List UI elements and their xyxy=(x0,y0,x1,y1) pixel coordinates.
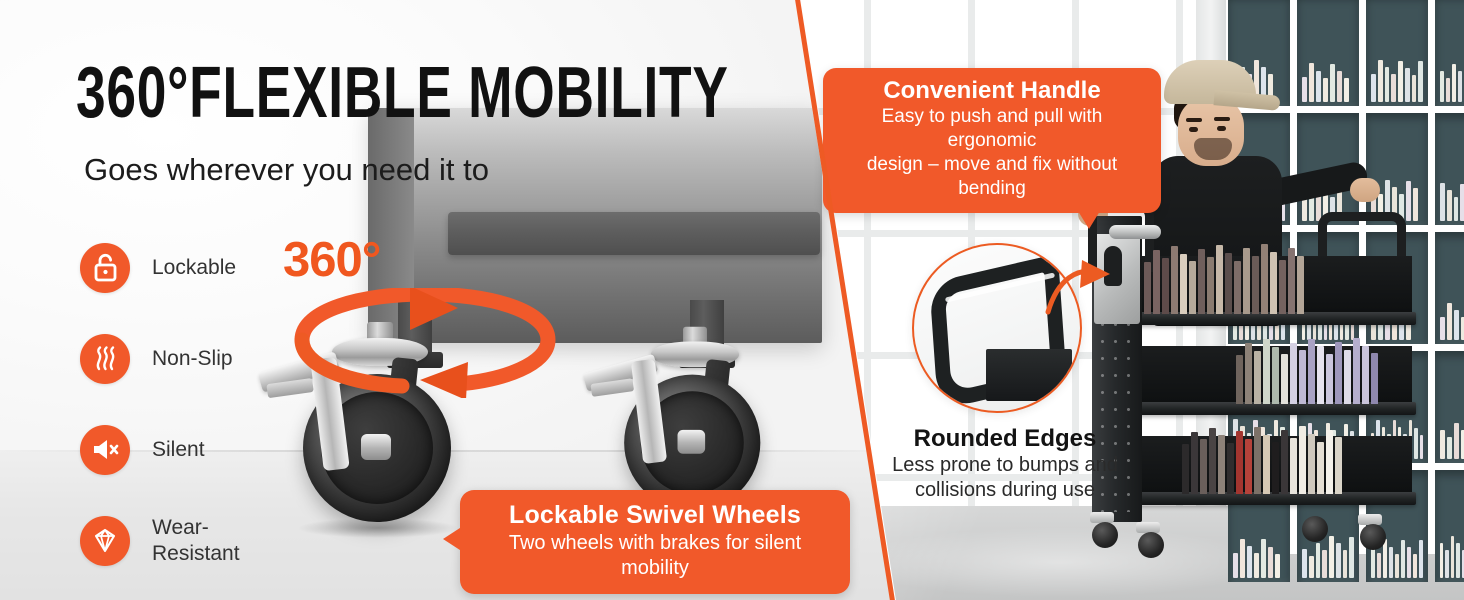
book xyxy=(1236,355,1243,404)
cart-caster xyxy=(1090,512,1120,546)
feature-label: Wear- Resistant xyxy=(152,515,240,567)
feature-label: Lockable xyxy=(152,255,236,281)
book xyxy=(1309,556,1314,578)
book xyxy=(1234,261,1241,314)
book xyxy=(1272,347,1279,404)
book xyxy=(1335,342,1342,404)
bookshelf-books xyxy=(1440,174,1464,221)
book xyxy=(1440,183,1445,221)
book xyxy=(1272,442,1279,494)
book xyxy=(1317,442,1324,495)
page-subtitle: Goes wherever you need it to xyxy=(84,152,489,188)
book xyxy=(1191,432,1198,494)
book xyxy=(1440,71,1444,103)
book xyxy=(1391,74,1396,102)
caster-wheel xyxy=(1138,532,1164,558)
bookshelf-books xyxy=(1440,412,1464,459)
magnifier-pointer-arrow xyxy=(1044,260,1114,318)
book xyxy=(1460,184,1464,221)
book xyxy=(1290,438,1297,494)
book xyxy=(1299,426,1306,494)
book xyxy=(1180,254,1187,314)
book xyxy=(1447,190,1452,221)
book xyxy=(1263,435,1270,495)
cart-caster xyxy=(1136,522,1166,556)
callout-subtitle: Two wheels with brakes for silent mobili… xyxy=(476,531,834,581)
cart-caster xyxy=(1358,514,1388,548)
book xyxy=(1418,61,1423,102)
product-feature-banner: 360°FLEXIBLE MOBILITY Goes wherever you … xyxy=(0,0,1464,600)
book xyxy=(1362,346,1369,404)
book xyxy=(1270,252,1277,314)
feature-label: Non-Slip xyxy=(152,346,233,372)
book xyxy=(1263,339,1270,404)
handle-mounting-bracket xyxy=(986,349,1072,401)
book xyxy=(1153,250,1160,314)
person-cap xyxy=(1164,60,1256,104)
muted-speaker-icon xyxy=(80,425,130,475)
book xyxy=(1317,346,1324,404)
feature-item-non-slip: Non-Slip xyxy=(80,313,350,404)
person-eye xyxy=(1189,127,1198,132)
caster-wheel xyxy=(1092,522,1118,548)
caster-hub xyxy=(678,430,706,454)
book xyxy=(1144,262,1151,314)
book xyxy=(1454,423,1459,459)
book xyxy=(1182,444,1189,494)
page-title: 360°FLEXIBLE MOBILITY xyxy=(76,54,729,132)
book xyxy=(1335,437,1342,494)
book xyxy=(1445,550,1448,578)
book xyxy=(1162,258,1169,314)
book xyxy=(1216,245,1223,314)
bookshelf-books xyxy=(1440,55,1464,102)
feature-item-wear-resistant: Wear- Resistant xyxy=(80,495,350,586)
open-padlock-icon xyxy=(80,243,130,293)
person-eyebrow xyxy=(1214,117,1230,121)
feature-item-lockable: Lockable xyxy=(80,222,350,313)
book xyxy=(1447,437,1452,459)
book xyxy=(1451,536,1454,578)
callout-lockable-swivel-wheels: Lockable Swivel Wheels Two wheels with b… xyxy=(460,490,850,594)
book xyxy=(1236,431,1243,494)
bookshelf-cell xyxy=(1435,470,1464,582)
book xyxy=(1225,253,1232,314)
book xyxy=(1440,317,1445,340)
bookshelf-cell xyxy=(1435,0,1464,106)
callout-title: Lockable Swivel Wheels xyxy=(476,500,834,530)
book xyxy=(1456,543,1459,578)
callout-line-1: Less prone to bumps and xyxy=(875,453,1135,478)
caster-hub xyxy=(361,434,391,460)
cart-books-bottom xyxy=(1182,424,1342,494)
callout-line-2: collisions during use xyxy=(875,478,1135,503)
feature-label: Silent xyxy=(152,437,205,463)
wavy-lines-icon xyxy=(80,334,130,384)
feature-list: Lockable Non-Slip xyxy=(80,222,350,586)
book xyxy=(1353,338,1360,404)
book xyxy=(1326,430,1333,494)
book xyxy=(1243,248,1250,314)
book xyxy=(1171,246,1178,314)
book xyxy=(1261,244,1268,314)
book xyxy=(1299,350,1306,404)
caster-wheel xyxy=(1302,516,1328,542)
bookshelf-books xyxy=(1440,531,1464,578)
book xyxy=(1405,68,1410,102)
callout-line-2: design – move and fix without bending xyxy=(837,153,1147,201)
book xyxy=(1452,64,1456,102)
book xyxy=(1227,443,1234,494)
book xyxy=(1385,67,1390,102)
person-beard xyxy=(1194,138,1232,160)
cart-books-top xyxy=(1144,242,1304,314)
person-eyebrow xyxy=(1186,118,1202,122)
book xyxy=(1281,354,1288,404)
book xyxy=(1371,353,1378,404)
bookshelf-cell xyxy=(1435,232,1464,344)
book xyxy=(1254,351,1261,404)
book xyxy=(1454,197,1459,221)
book xyxy=(1454,310,1459,340)
book xyxy=(1218,435,1225,494)
book xyxy=(1189,261,1196,314)
book xyxy=(1288,248,1295,314)
cart-rail xyxy=(448,212,820,255)
book xyxy=(1447,303,1452,340)
book xyxy=(1245,343,1252,404)
cart-caster xyxy=(1300,506,1330,540)
caster-wheel xyxy=(1360,524,1386,550)
book-cart xyxy=(1086,196,1422,558)
book xyxy=(1326,354,1333,404)
book xyxy=(1281,430,1288,494)
book xyxy=(1308,339,1315,404)
book xyxy=(1458,71,1462,102)
book xyxy=(1245,439,1252,494)
book xyxy=(1290,343,1297,404)
book xyxy=(1279,260,1286,314)
bookshelf-cell xyxy=(1435,113,1464,225)
bookshelf-cell xyxy=(1435,351,1464,463)
diamond-gem-icon xyxy=(80,516,130,566)
book xyxy=(1440,430,1445,459)
book xyxy=(1209,428,1216,495)
book xyxy=(1207,257,1214,314)
callout-rounded-edges: Rounded Edges Less prone to bumps and co… xyxy=(875,424,1135,503)
handle-grip xyxy=(1109,225,1161,239)
callout-title: Rounded Edges xyxy=(875,424,1135,453)
book xyxy=(1398,61,1403,102)
book xyxy=(1344,350,1351,404)
cart-books-middle xyxy=(1236,336,1378,404)
callout-title: Convenient Handle xyxy=(837,76,1147,105)
book xyxy=(1308,434,1315,494)
book xyxy=(1440,543,1443,578)
book xyxy=(1412,75,1417,102)
feature-item-silent: Silent xyxy=(80,404,350,495)
callout-convenient-handle: Convenient Handle Easy to push and pull … xyxy=(823,68,1161,213)
callout-line-1: Easy to push and pull with ergonomic xyxy=(837,105,1147,153)
book xyxy=(1200,439,1207,494)
book xyxy=(1446,78,1450,102)
book xyxy=(1198,249,1205,314)
book xyxy=(1297,256,1304,314)
bookshelf-books xyxy=(1440,293,1464,340)
book xyxy=(1252,256,1259,314)
book xyxy=(1254,427,1261,494)
person-eye xyxy=(1217,126,1226,131)
